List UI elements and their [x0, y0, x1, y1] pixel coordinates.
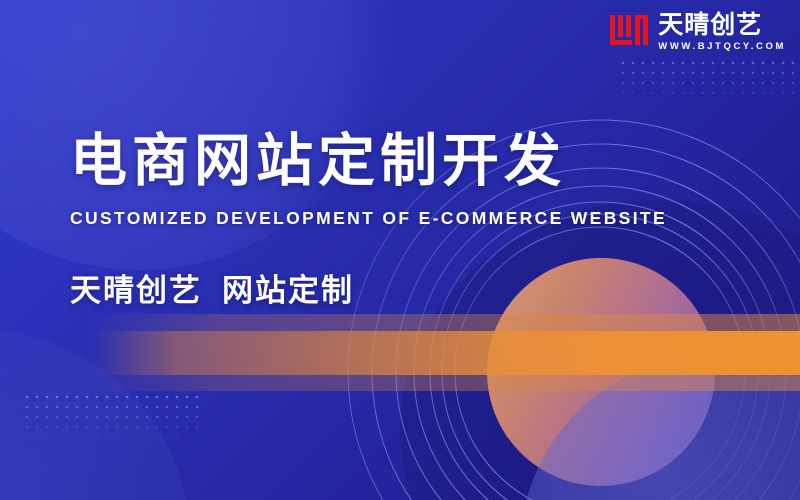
page-subtitle: CUSTOMIZED DEVELOPMENT OF E-COMMERCE WEB… [70, 207, 667, 229]
tagline-part-2: 网站定制 [222, 273, 354, 309]
tagline-part-1: 天晴创艺 [70, 273, 202, 309]
brand-name-cn: 天晴创艺 [658, 12, 762, 38]
tagline: 天晴创艺网站定制 [70, 271, 667, 311]
promo-banner: 天晴创艺 WWW.BJTQCY.COM 电商网站定制开发 CUSTOMIZED … [0, 0, 800, 500]
brand-logo[interactable]: 天晴创艺 WWW.BJTQCY.COM [609, 12, 786, 52]
soft-circle-bottom-left [0, 330, 190, 500]
orange-accent-bar-bottom [92, 375, 800, 391]
page-title: 电商网站定制开发 [70, 128, 667, 194]
soft-circle-bottom-right [520, 355, 800, 500]
brand-url: WWW.BJTQCY.COM [658, 41, 786, 52]
headline-block: 电商网站定制开发 CUSTOMIZED DEVELOPMENT OF E-COM… [70, 128, 667, 311]
dot-grid-bottom-left [22, 392, 204, 444]
orange-accent-bar-main [92, 331, 800, 375]
dot-grid-top-right [618, 58, 800, 104]
tianqing-chuangyi-logo-mark-icon [609, 12, 649, 48]
orange-accent-bar-top [92, 314, 800, 331]
